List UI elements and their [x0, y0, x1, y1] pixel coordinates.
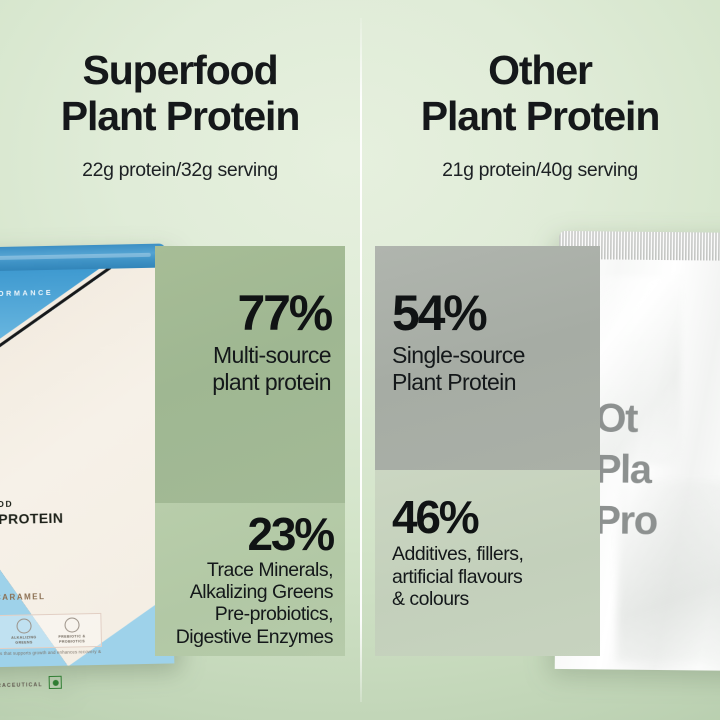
stat-percent-23: 23% [155, 511, 333, 557]
pouch-flavour: VANILLA CARAMEL [0, 592, 46, 603]
stat-desc-line-0: Single-source [392, 342, 600, 369]
pouch-title-plant-protein: PLANT PROTEIN [0, 510, 63, 528]
left-title: Superfood Plant Protein [14, 48, 346, 140]
vegetarian-mark-icon [49, 676, 62, 689]
right-title-line2: Plant Protein [421, 93, 660, 139]
pouch-product-title: SUPERFOOD PLANT PROTEIN [0, 498, 63, 528]
stat-desc-single-source: Single-source Plant Protein [392, 342, 600, 396]
pouch-claim-text: micro proteins with plant peptides that … [0, 649, 104, 666]
stat-desc-line-0: Multi-source [155, 342, 331, 369]
right-subtitle: 21g protein/40g serving [374, 159, 706, 182]
stat-desc-line-2: & colours [392, 588, 600, 611]
superfood-protein-pouch: YOUR PERFORMANCE WELLBEING W NUTRITION S… [0, 243, 174, 668]
right-column-header: Other Plant Protein 21g protein/40g serv… [360, 48, 720, 182]
other-pouch-text: Ot Pla Pro [594, 393, 658, 547]
left-column-header: Superfood Plant Protein 22g protein/32g … [0, 48, 360, 182]
stat-desc-line-0: Additives, fillers, [392, 543, 600, 566]
left-title-line1: Superfood [82, 47, 277, 93]
stat-panel-additives: 46% Additives, fillers, artificial flavo… [375, 470, 600, 656]
left-subtitle: 22g protein/32g serving [14, 159, 346, 182]
right-title: Other Plant Protein [374, 48, 706, 140]
other-pouch-line-0: Ot [595, 393, 658, 445]
stat-desc-line-1: Alkalizing Greens [155, 581, 333, 603]
right-title-line1: Other [488, 47, 592, 93]
stat-percent-46: 46% [392, 494, 600, 540]
pouch-title-superfood: SUPERFOOD [0, 498, 63, 510]
other-pouch-line-2: Pro [594, 496, 657, 548]
microbe-icon [64, 617, 79, 632]
other-pouch-line-1: Pla [595, 445, 658, 497]
stat-desc-line-2: Pre-probiotics, [155, 603, 333, 625]
stat-percent-77: 77% [155, 288, 331, 338]
comparison-infographic: Superfood Plant Protein 22g protein/32g … [0, 0, 720, 720]
stat-desc-line-1: Plant Protein [392, 369, 600, 396]
stat-panel-multi-source: 77% Multi-source plant protein [155, 246, 345, 503]
benefit-alkalizing-greens-icon: ALKALIZING GREENS [4, 618, 43, 645]
left-title-line2: Plant Protein [61, 93, 300, 139]
stat-desc-line-1: artificial flavours [392, 566, 600, 589]
stat-panel-single-source: 54% Single-source Plant Protein [375, 246, 600, 470]
benefit-probiotics-icon: PREBIOTIC & PROBIOTICS [48, 617, 96, 644]
stat-desc-additives: Additives, fillers, artificial flavours … [392, 543, 600, 611]
stat-panel-trace-minerals: 23% Trace Minerals, Alkalizing Greens Pr… [155, 503, 345, 656]
benefit-label-2: PREBIOTIC & PROBIOTICS [48, 634, 96, 644]
stat-desc-line-0: Trace Minerals, [155, 559, 333, 581]
pouch-footer-nutraceutical: NUTRACEUTICAL [0, 682, 43, 689]
benefit-label-1: ALKALIZING GREENS [5, 635, 44, 645]
pouch-label-content: WELLBEING W NUTRITION SUPERFOOD PLANT PR… [0, 243, 174, 668]
stat-desc-trace-minerals: Trace Minerals, Alkalizing Greens Pre-pr… [155, 559, 333, 648]
leaf-icon [16, 618, 31, 633]
stat-percent-54: 54% [392, 288, 600, 338]
stat-desc-line-3: Digestive Enzymes [155, 626, 333, 648]
column-divider [360, 18, 362, 702]
stat-desc-line-1: plant protein [155, 369, 331, 396]
pouch-benefit-icons: 3g PLANT FIBER TRACE MINERALS ALKALIZING… [0, 613, 102, 651]
stat-desc-multi-source: Multi-source plant protein [155, 342, 331, 396]
